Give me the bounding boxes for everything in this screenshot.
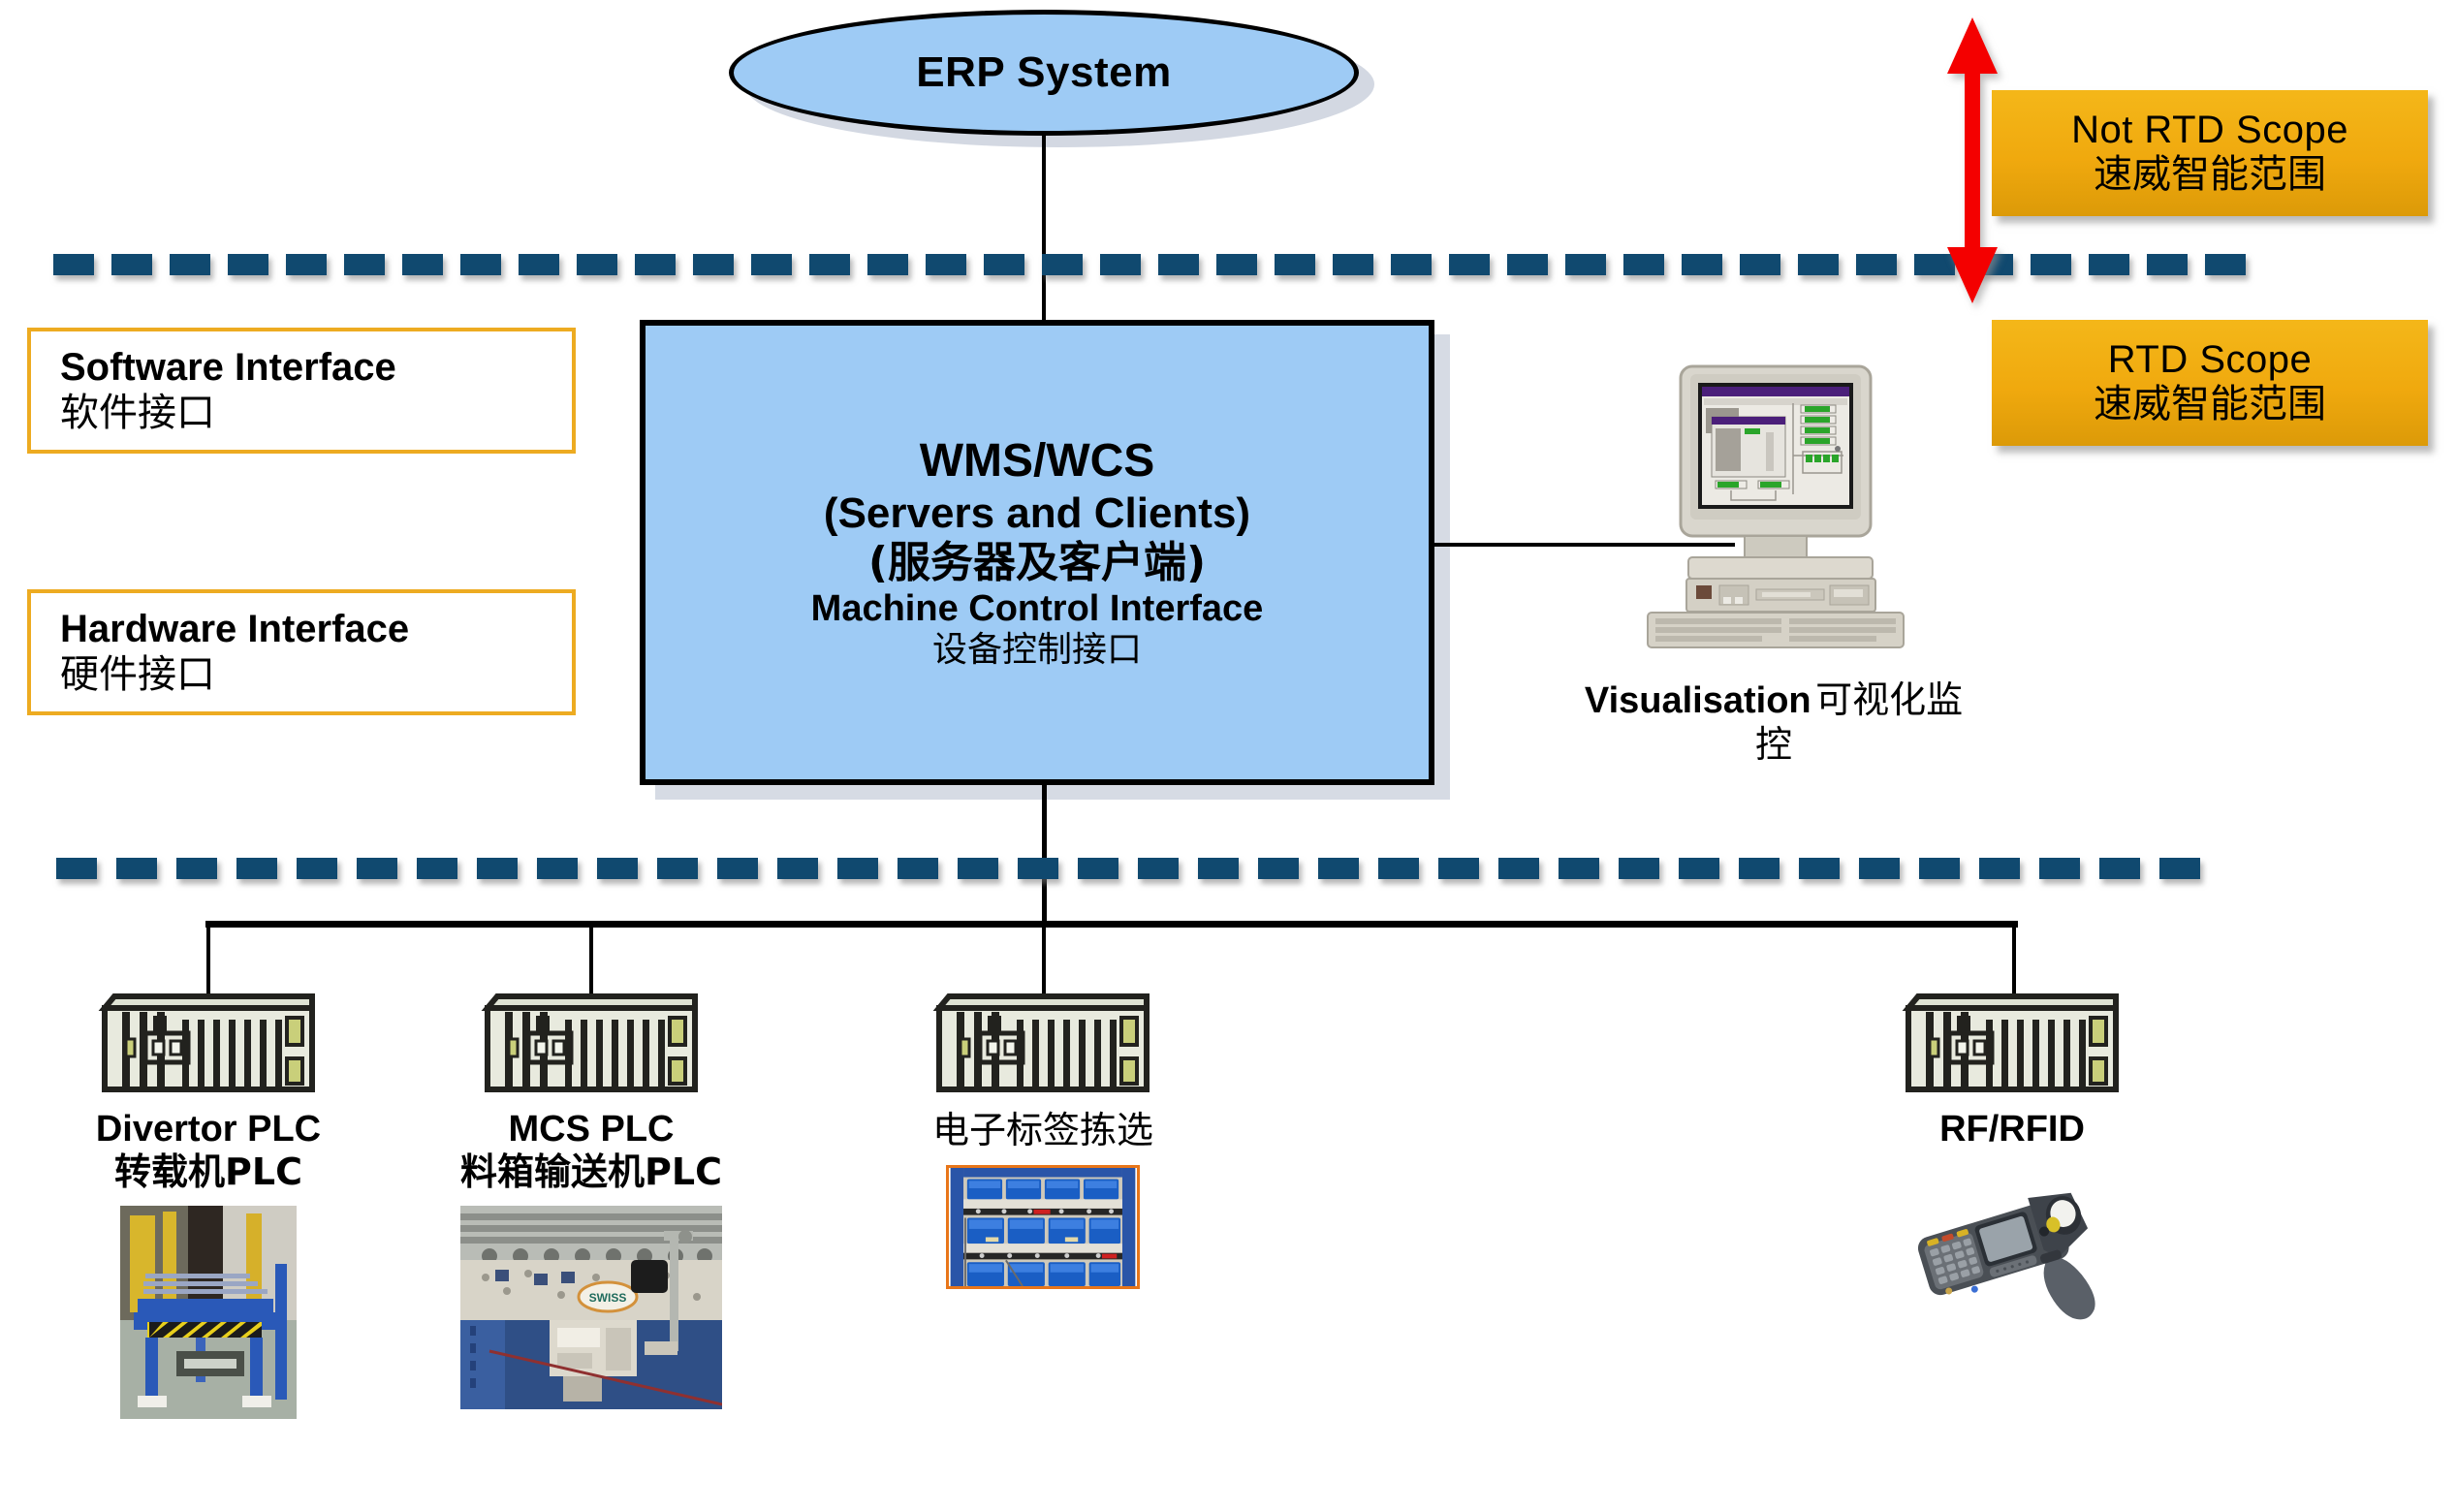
divertor-label-zh: 转载机PLC [24,1150,393,1195]
wms-line-2: (Servers and Clients) [824,488,1250,538]
scope-box-rtd[interactable]: RTD Scope 速威智能范围 [1992,320,2428,446]
device-label-mcs: MCS PLC 料箱输送机PLC [407,1109,775,1194]
plc-rack-icon[interactable] [97,989,320,1095]
diagram-canvas: ERP System Not RTD Scope 速威智能范围 RTD Scop… [0,0,2457,1512]
wms-line-1: WMS/WCS [920,434,1155,488]
scope-not-rtd-zh: 速威智能范围 [2094,151,2326,198]
visualisation-caption: Visualisation 可视化监控 [1570,678,1977,767]
software-interface-zh: 软件接口 [60,390,572,436]
divider-navy-dashes [53,254,2263,275]
scope-rtd-zh: 速威智能范围 [2094,381,2326,427]
rfid-label-en: RF/RFID [1828,1109,2196,1150]
software-interface-en: Software Interface [60,345,572,390]
rfid-handheld-scanner-photo [1901,1162,2124,1341]
scope-box-not-rtd[interactable]: Not RTD Scope 速威智能范围 [1992,90,2428,216]
device-column-divertor: Divertor PLC 转载机PLC [24,989,393,1419]
device-column-rfid: RF/RFID [1828,989,2196,1341]
divertor-label-en: Divertor PLC [24,1109,393,1150]
fieldbus-bar [205,921,2018,928]
connector-wms-to-fieldbus [1042,785,1047,921]
plc-rack-icon[interactable] [1901,989,2124,1095]
wms-line-3: (服务器及客户端) [868,538,1206,587]
scope-not-rtd-en: Not RTD Scope [2071,109,2348,152]
pick-to-light-rack-photo [946,1165,1140,1289]
connector-erp-to-wms [1042,134,1046,324]
wms-line-4: Machine Control Interface [811,587,1264,630]
crt-workstation-icon[interactable] [1630,359,1921,659]
erp-node-label: ERP System [916,48,1171,97]
erp-system-node[interactable]: ERP System [729,10,1359,136]
device-column-pick-to-light: 电子标签拣选 [859,989,1227,1289]
mcs-label-en: MCS PLC [407,1109,775,1150]
device-label-divertor: Divertor PLC 转载机PLC [24,1109,393,1194]
wms-line-5: 设备控制接口 [932,630,1142,671]
hardware-divider-navy-dashes [56,858,2218,879]
legend-hardware-interface[interactable]: Hardware Interface 硬件接口 [27,589,576,715]
scope-rtd-en: RTD Scope [2108,338,2313,382]
mcs-label-zh: 料箱输送机PLC [407,1150,775,1195]
software-interface-divider [53,254,2263,275]
divertor-conveyor-photo [120,1206,297,1419]
visualisation-en: Visualisation [1585,680,1811,721]
plc-rack-icon[interactable] [480,989,703,1095]
legend-software-interface[interactable]: Software Interface 软件接口 [27,328,576,454]
carton-conveyor-photo: SWISS [460,1206,722,1409]
device-column-mcs: MCS PLC 料箱输送机PLC [407,989,775,1409]
device-label-rfid: RF/RFID [1828,1109,2196,1150]
plc-rack-icon[interactable] [931,989,1154,1095]
wms-wcs-node[interactable]: WMS/WCS (Servers and Clients) (服务器及客户端) … [640,320,1434,785]
hardware-interface-en: Hardware Interface [60,607,572,651]
hardware-interface-zh: 硬件接口 [60,651,572,698]
device-label-pick-to-light: 电子标签拣选 [859,1109,1227,1153]
hardware-interface-divider [56,858,2218,879]
pick-to-light-label-zh: 电子标签拣选 [859,1109,1227,1153]
svg-text:SWISS: SWISS [589,1291,627,1305]
